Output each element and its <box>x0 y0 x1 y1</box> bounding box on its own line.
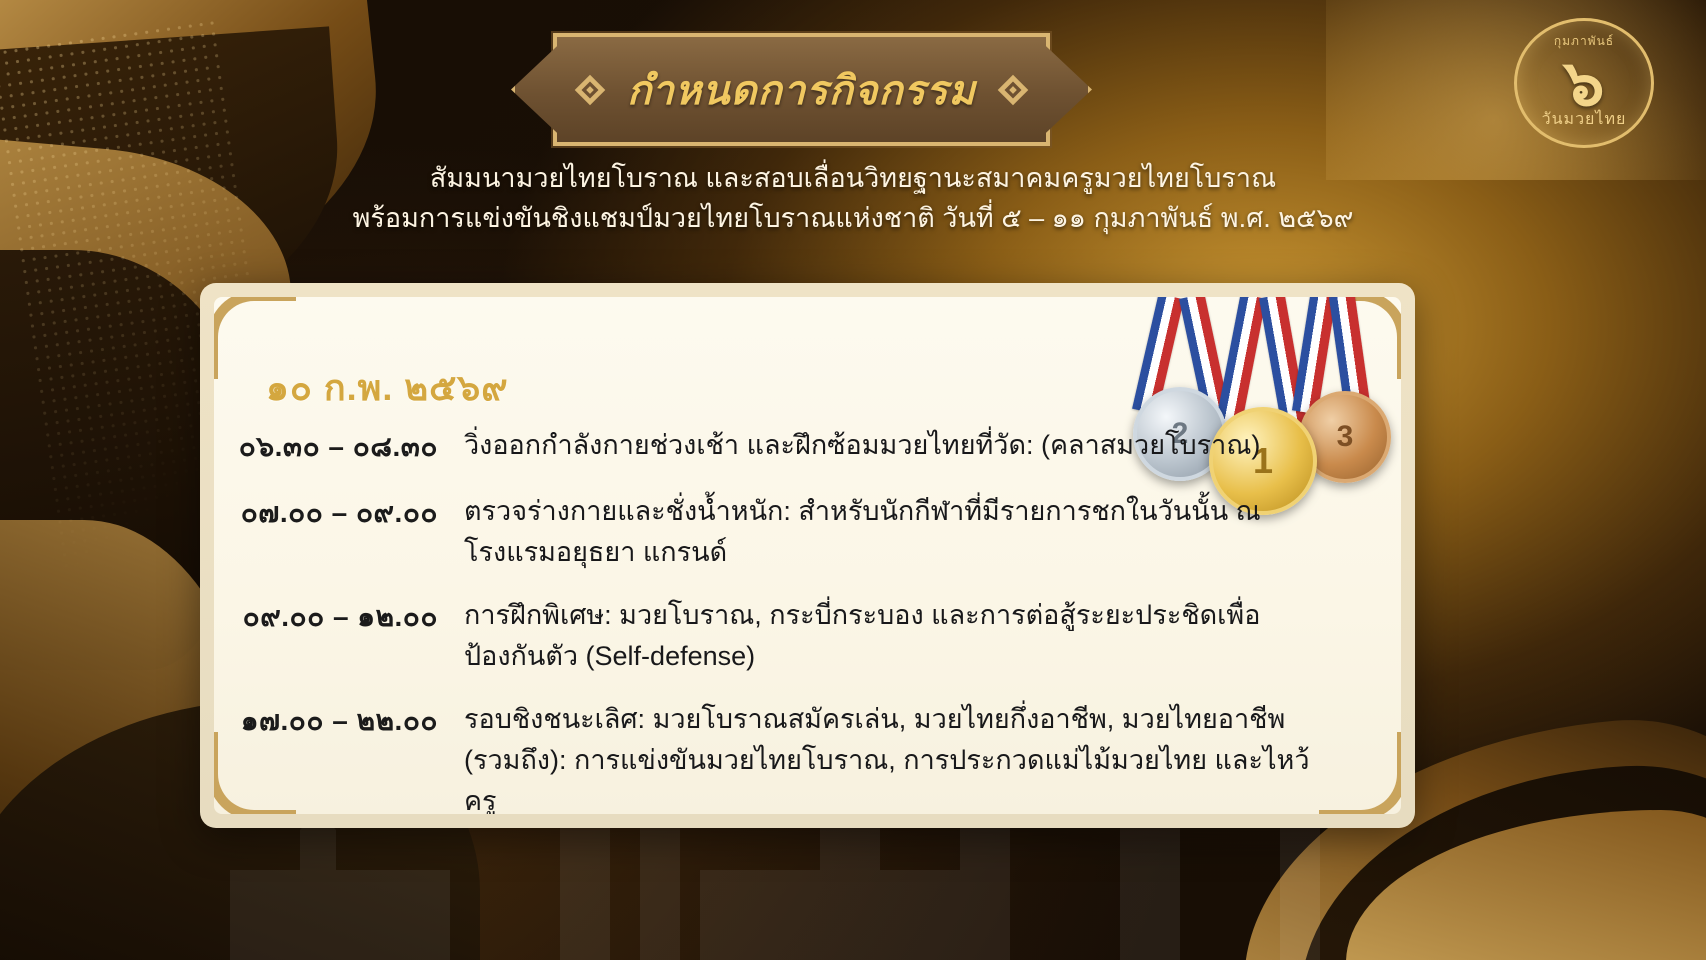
emblem-label-top: กุมภาพันธ์ <box>1514 32 1654 51</box>
schedule-row: ๐๖.๓๐ – ๐๘.๓๐ วิ่งออกกำลังกายช่วงเช้า แล… <box>214 425 1401 469</box>
schedule-row-activity: ตรวจร่างกายและชั่งน้ำหนัก: สำหรับนักกีฬา… <box>464 491 1401 573</box>
schedule-row: ๐๙.๐๐ – ๑๒.๐๐ การฝึกพิเศษ: มวยโบราณ, กระ… <box>214 595 1401 677</box>
schedule-row-activity: วิ่งออกกำลังกายช่วงเช้า และฝึกซ้อมมวยไทย… <box>464 425 1401 466</box>
schedule-row-time: ๐๗.๐๐ – ๐๙.๐๐ <box>214 491 464 535</box>
schedule-row: ๑๗.๐๐ – ๒๒.๐๐ รอบชิงชนะเลิศ: มวยโบราณสมั… <box>214 699 1401 814</box>
schedule-rows: ๐๖.๓๐ – ๐๘.๓๐ วิ่งออกกำลังกายช่วงเช้า แล… <box>214 425 1401 814</box>
banner-title-text: กำหนดการกิจกรรม <box>627 58 976 122</box>
ribbon-decoration-right-3 <box>1346 810 1706 960</box>
schedule-row: ๐๗.๐๐ – ๐๙.๐๐ ตรวจร่างกายและชั่งน้ำหนัก:… <box>214 491 1401 573</box>
schedule-row-time: ๐๙.๐๐ – ๑๒.๐๐ <box>214 595 464 639</box>
schedule-card-inner: ๑๐ ก.พ. ๒๕๖๙ 2 3 1 ๐๖.๓๐ – ๐๘.๓๐ วิ่งออก… <box>214 297 1401 814</box>
muaythai-day-emblem: ๖ กุมภาพันธ์ วันมวยไทย <box>1514 18 1654 148</box>
schedule-card: ๑๐ ก.พ. ๒๕๖๙ 2 3 1 ๐๖.๓๐ – ๐๘.๓๐ วิ่งออก… <box>200 283 1415 828</box>
diamond-ornament-right-icon <box>998 75 1028 105</box>
subtitle-line-1: สัมมนามวยไทยโบราณ และสอบเลื่อนวิทยฐานะสม… <box>0 158 1706 198</box>
schedule-date-heading: ๑๐ ก.พ. ๒๕๖๙ <box>266 359 509 416</box>
schedule-row-time: ๐๖.๓๐ – ๐๘.๓๐ <box>214 425 464 469</box>
emblem-label-bottom: วันมวยไทย <box>1514 107 1654 132</box>
schedule-row-activity: การฝึกพิเศษ: มวยโบราณ, กระบี่กระบอง และก… <box>464 595 1401 677</box>
schedule-row-time: ๑๗.๐๐ – ๒๒.๐๐ <box>214 699 464 743</box>
slide-root: กำหนดการกิจกรรม สัมมนามวยไทยโบราณ และสอบ… <box>0 0 1706 960</box>
subtitle-block: สัมมนามวยไทยโบราณ และสอบเลื่อนวิทยฐานะสม… <box>0 158 1706 238</box>
schedule-row-activity: รอบชิงชนะเลิศ: มวยโบราณสมัครเล่น, มวยไทย… <box>464 699 1401 814</box>
title-banner: กำหนดการกิจกรรม <box>553 33 1050 146</box>
subtitle-line-2: พร้อมการแข่งขันชิงแชมป์มวยไทยโบราณแห่งชา… <box>0 198 1706 238</box>
diamond-ornament-left-icon <box>575 75 605 105</box>
